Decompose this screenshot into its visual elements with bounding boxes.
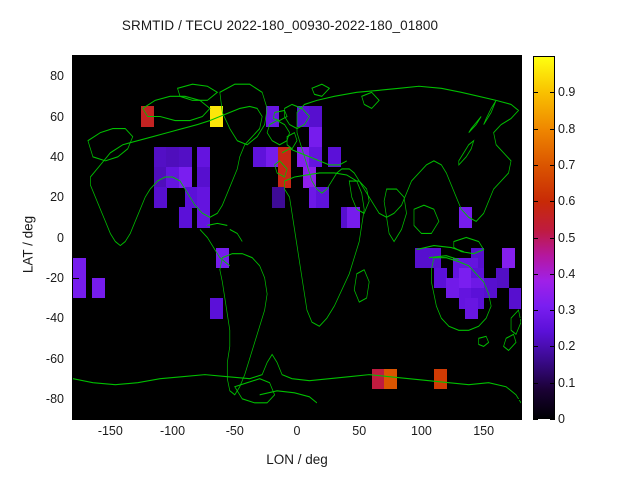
x-tick-mark [235,413,236,419]
x-tick-label: -100 [160,424,185,438]
colorbar-tick-mark [533,129,538,130]
x-tick-mark [110,413,111,419]
y-tick-mark-right [515,399,521,400]
chart-title: SRMTID / TECU 2022-180_00930-2022-180_01… [0,18,560,33]
colorbar-tick-label: 0.9 [558,85,575,99]
x-tick-label: 50 [352,424,366,438]
coastline-overlay [73,56,521,419]
colorbar-tick-mark-right [550,346,555,347]
colorbar-tick-mark [533,383,538,384]
y-tick-mark-right [515,76,521,77]
x-tick-mark [359,413,360,419]
x-tick-mark-top [359,56,360,62]
y-tick-mark [73,117,79,118]
x-tick-mark-top [297,56,298,62]
y-tick-label: 60 [20,110,64,124]
colorbar-tick-mark [533,238,538,239]
x-tick-mark [173,413,174,419]
colorbar-tick-mark-right [550,310,555,311]
colorbar-tick-mark [533,201,538,202]
colorbar-tick-mark [533,310,538,311]
colorbar-tick-label: 0.4 [558,267,575,281]
colorbar-tick-mark [533,92,538,93]
x-tick-mark [297,413,298,419]
colorbar-tick-mark-right [550,238,555,239]
colorbar-tick-label: 0.7 [558,158,575,172]
y-tick-mark [73,238,79,239]
x-tick-label: -150 [98,424,123,438]
x-tick-label: 0 [294,424,301,438]
x-tick-mark-top [110,56,111,62]
y-tick-mark [73,359,79,360]
colorbar-tick-label: 0.1 [558,376,575,390]
y-tick-mark-right [515,278,521,279]
x-tick-label: -50 [226,424,244,438]
x-axis-label: LON / deg [73,452,521,467]
colorbar-tick-mark [533,419,538,420]
colorbar-tick-mark [533,165,538,166]
x-tick-mark-top [484,56,485,62]
y-tick-mark [73,399,79,400]
colorbar-tick-mark-right [550,383,555,384]
y-tick-mark [73,197,79,198]
colorbar-tick-mark-right [550,201,555,202]
x-tick-mark-top [173,56,174,62]
y-axis-label: LAT / deg [21,145,36,345]
colorbar-tick-mark-right [550,274,555,275]
colorbar-tick-label: 0.3 [558,303,575,317]
y-tick-label: -60 [20,352,64,366]
y-tick-mark-right [515,359,521,360]
y-tick-mark [73,278,79,279]
colorbar-tick-mark [533,346,538,347]
colorbar-tick-label: 0 [558,412,565,426]
y-tick-mark-right [515,197,521,198]
colorbar-tick-label: 0.2 [558,339,575,353]
x-tick-label: 100 [411,424,432,438]
y-tick-mark-right [515,117,521,118]
y-tick-mark-right [515,157,521,158]
y-tick-mark-right [515,318,521,319]
y-tick-label: 80 [20,69,64,83]
colorbar-tick-label: 0.8 [558,122,575,136]
x-tick-label: 150 [473,424,494,438]
x-tick-mark [421,413,422,419]
y-tick-mark [73,76,79,77]
colorbar-tick-mark-right [550,165,555,166]
y-tick-label: -80 [20,392,64,406]
x-tick-mark-top [235,56,236,62]
x-tick-mark-top [421,56,422,62]
map-plot-area [73,56,521,419]
x-tick-mark [484,413,485,419]
colorbar-tick-mark-right [550,129,555,130]
y-tick-mark [73,157,79,158]
colorbar-tick-label: 0.5 [558,231,575,245]
colorbar-tick-mark-right [550,92,555,93]
colorbar-tick-label: 0.6 [558,194,575,208]
colorbar-tick-mark [533,274,538,275]
colorbar-tick-mark-right [550,419,555,420]
y-tick-mark [73,318,79,319]
y-tick-mark-right [515,238,521,239]
